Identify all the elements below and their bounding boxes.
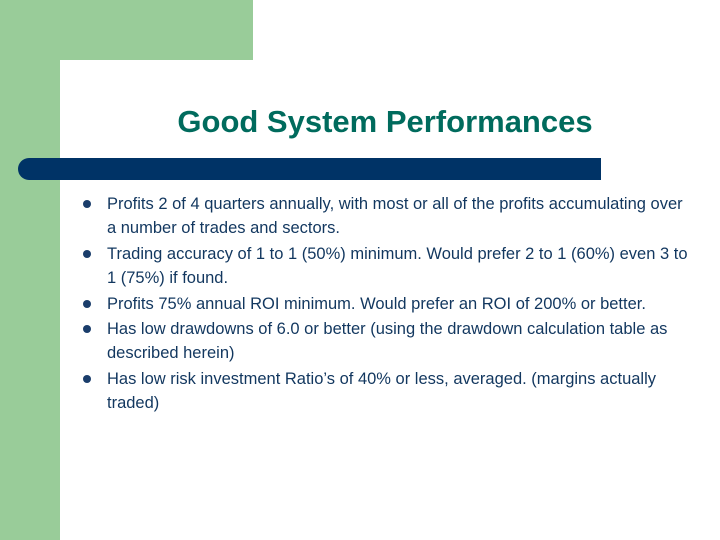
list-item: Profits 2 of 4 quarters annually, with m… bbox=[78, 192, 693, 241]
disc-bullet-icon bbox=[83, 250, 91, 258]
green-left-accent-band bbox=[0, 0, 60, 540]
green-top-accent-block bbox=[0, 0, 253, 60]
list-item-text: Profits 75% annual ROI minimum. Would pr… bbox=[107, 292, 693, 316]
list-item: Has low risk investment Ratio’s of 40% o… bbox=[78, 367, 693, 416]
disc-bullet-icon bbox=[83, 200, 91, 208]
list-item-text: Has low drawdowns of 6.0 or better (usin… bbox=[107, 317, 693, 366]
presentation-slide: Good System Performances Profits 2 of 4 … bbox=[0, 0, 720, 540]
list-item: Trading accuracy of 1 to 1 (50%) minimum… bbox=[78, 242, 693, 291]
disc-bullet-icon bbox=[83, 325, 91, 333]
list-item-text: Trading accuracy of 1 to 1 (50%) minimum… bbox=[107, 242, 693, 291]
page-title: Good System Performances bbox=[60, 103, 710, 141]
navy-accent-bar bbox=[18, 158, 601, 180]
disc-bullet-icon bbox=[83, 300, 91, 308]
list-item: Has low drawdowns of 6.0 or better (usin… bbox=[78, 317, 693, 366]
bullet-list: Profits 2 of 4 quarters annually, with m… bbox=[78, 192, 693, 417]
disc-bullet-icon bbox=[83, 375, 91, 383]
list-item: Profits 75% annual ROI minimum. Would pr… bbox=[78, 292, 693, 316]
list-item-text: Has low risk investment Ratio’s of 40% o… bbox=[107, 367, 693, 416]
title-container: Good System Performances bbox=[60, 103, 710, 141]
list-item-text: Profits 2 of 4 quarters annually, with m… bbox=[107, 192, 693, 241]
